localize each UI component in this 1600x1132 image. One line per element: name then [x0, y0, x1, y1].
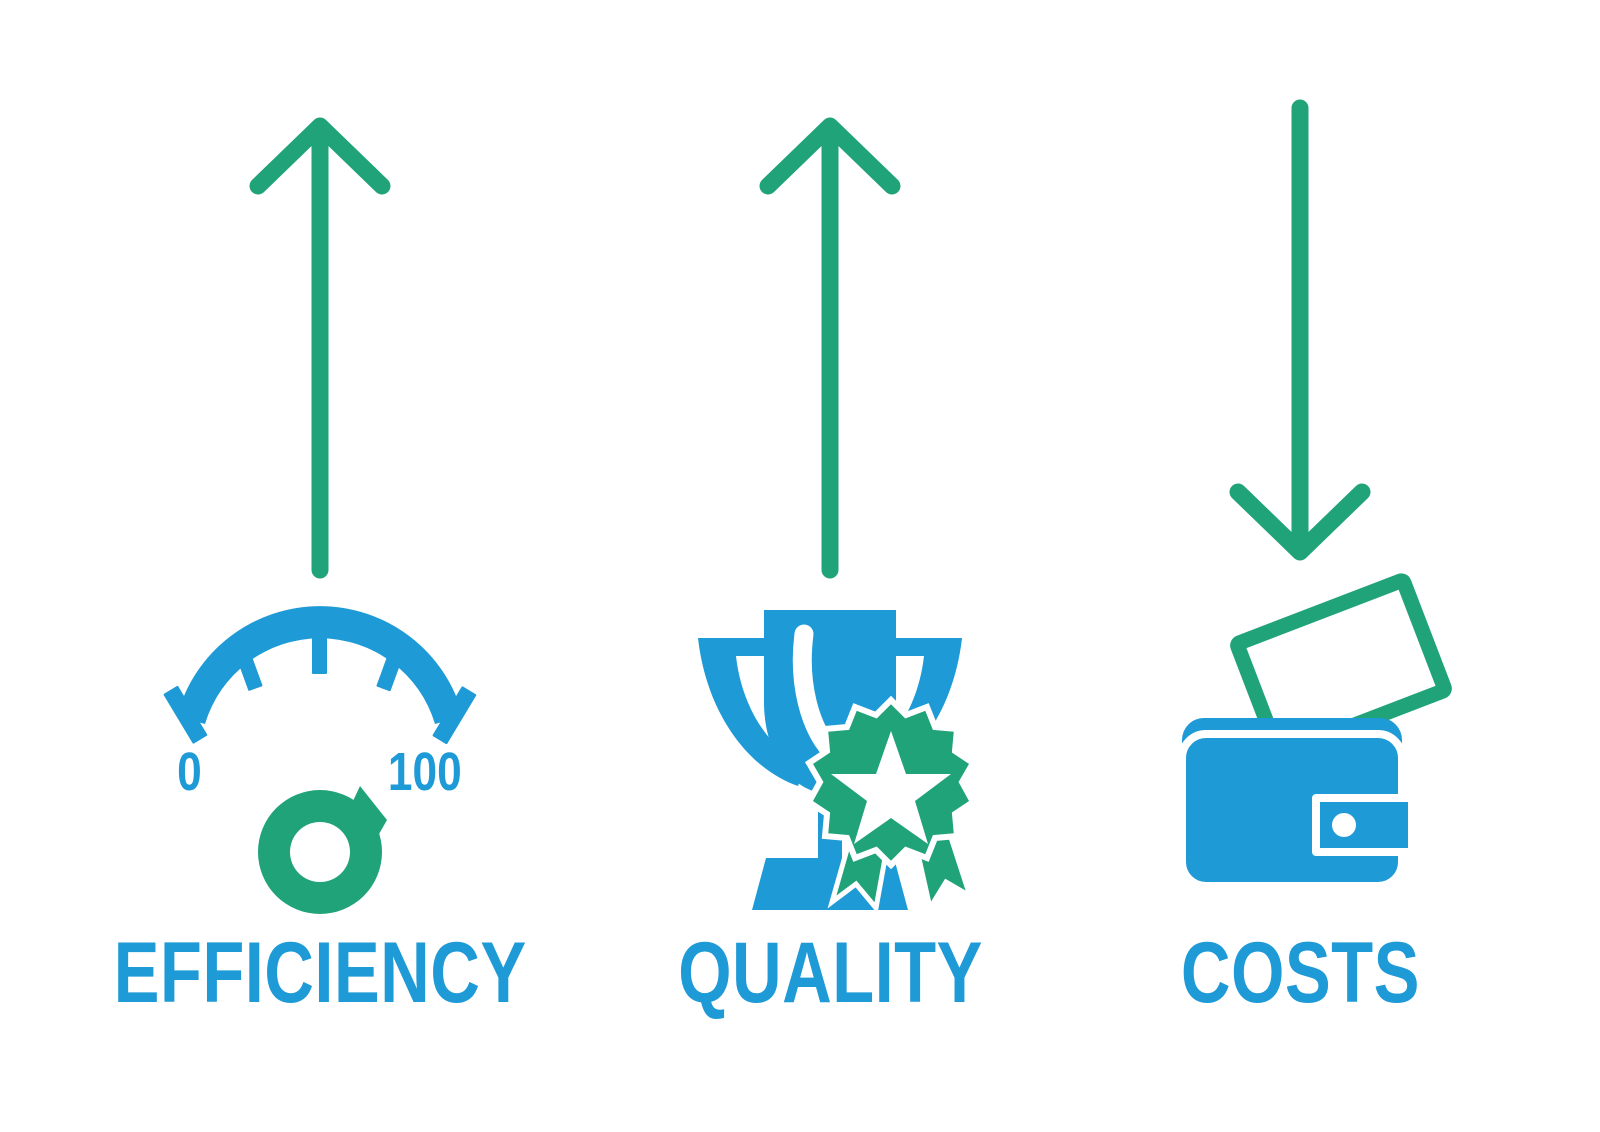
arrow-down-costs [1080, 90, 1520, 590]
gauge-dial [163, 606, 476, 744]
metric-column-efficiency: 0 100 EFFICIENCY [60, 0, 580, 1132]
arrow-up-icon [768, 126, 892, 570]
gauge-max-label: 100 [388, 742, 462, 802]
arrow-up-icon [258, 126, 382, 570]
metric-label-costs-wrapper: COSTS [1080, 918, 1520, 1028]
metric-column-costs: COSTS [1080, 0, 1520, 1132]
gauge-needle [258, 786, 387, 914]
metric-column-quality: QUALITY [620, 0, 1040, 1132]
metric-label-quality-wrapper: QUALITY [620, 918, 1040, 1028]
arrow-up-efficiency [60, 90, 580, 590]
gauge-icon: 0 100 [60, 590, 580, 910]
arrow-down-icon [1238, 108, 1362, 552]
wallet-clasp [1316, 798, 1412, 852]
trophy-award-icon [620, 590, 1040, 910]
metric-label-quality: QUALITY [678, 930, 983, 1016]
wallet-clasp-button [1332, 813, 1356, 837]
wallet-card-icon [1080, 590, 1520, 910]
gauge-min-label: 0 [177, 742, 202, 802]
arrow-up-quality [620, 90, 1040, 590]
metric-label-efficiency-wrapper: EFFICIENCY [60, 918, 580, 1028]
metric-label-costs: COSTS [1180, 930, 1419, 1016]
infographic-canvas: 0 100 EFFICIENCY [0, 0, 1600, 1132]
metric-label-efficiency: EFFICIENCY [113, 930, 526, 1016]
